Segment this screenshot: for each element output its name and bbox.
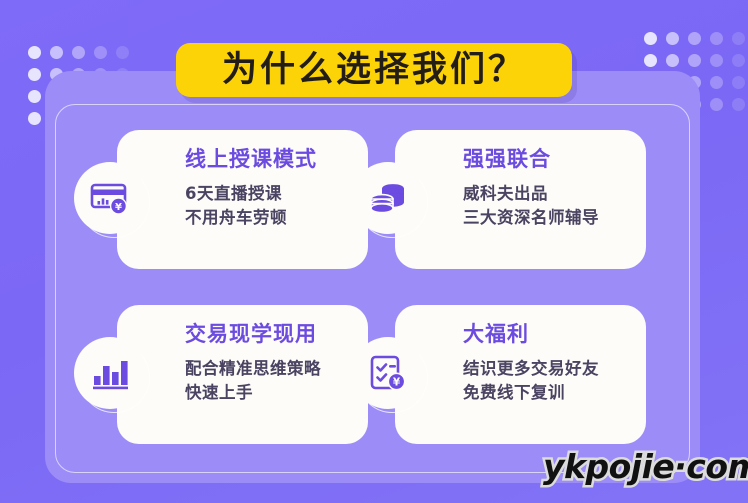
svg-text:¥: ¥ bbox=[393, 377, 401, 389]
icon-badge-strong-alliance bbox=[352, 162, 428, 238]
watermark: ykpojie·com bbox=[543, 447, 748, 486]
dot bbox=[50, 46, 63, 59]
card-body: 强强联合 威科夫出品 三大资深名师辅导 bbox=[463, 148, 636, 230]
dot bbox=[644, 54, 657, 67]
dot bbox=[732, 32, 745, 45]
dot bbox=[28, 68, 41, 81]
card-line-2: 三大资深名师辅导 bbox=[463, 206, 636, 230]
dot bbox=[710, 54, 723, 67]
icon-circle: ¥ bbox=[352, 337, 424, 409]
card-line-1: 6天直播授课 bbox=[185, 182, 358, 206]
feature-card-benefits[interactable]: 大福利 结识更多交易好友 免费线下复训 bbox=[395, 305, 646, 444]
icon-badge-benefits: ¥ bbox=[352, 337, 428, 413]
dot bbox=[116, 46, 129, 59]
clipboard-check-yuan-icon: ¥ bbox=[367, 352, 409, 394]
dot bbox=[94, 46, 107, 59]
dot bbox=[732, 76, 745, 89]
dot bbox=[710, 76, 723, 89]
title-banner: 为什么选择我们？ bbox=[176, 43, 572, 97]
dot bbox=[732, 98, 745, 111]
credit-card-chart-yuan-icon: ¥ bbox=[89, 177, 131, 219]
feature-card-trading-practice[interactable]: 交易现学现用 配合精准思维策略 快速上手 bbox=[117, 305, 368, 444]
card-line-1: 威科夫出品 bbox=[463, 182, 636, 206]
bar-chart-icon bbox=[89, 352, 131, 394]
feature-card-online-teaching[interactable]: 线上授课模式 6天直播授课 不用舟车劳顿 bbox=[117, 130, 368, 269]
card-title: 线上授课模式 bbox=[185, 148, 358, 171]
svg-text:¥: ¥ bbox=[115, 202, 122, 213]
dot bbox=[28, 46, 41, 59]
card-line-2: 快速上手 bbox=[185, 381, 358, 405]
card-body: 交易现学现用 配合精准思维策略 快速上手 bbox=[185, 323, 358, 405]
dot bbox=[644, 32, 657, 45]
dot bbox=[666, 32, 679, 45]
dot bbox=[688, 54, 701, 67]
card-line-2: 免费线下复训 bbox=[463, 381, 636, 405]
dot bbox=[666, 54, 679, 67]
card-line-1: 配合精准思维策略 bbox=[185, 357, 358, 381]
icon-badge-trading-practice bbox=[74, 337, 150, 413]
icon-circle bbox=[74, 337, 146, 409]
poster-canvas: 为什么选择我们？ 线上授课模式 6天直播授课 不用舟车劳顿 强强联合 威科夫出品… bbox=[0, 0, 748, 503]
card-title: 大福利 bbox=[463, 323, 636, 346]
dot bbox=[28, 112, 41, 125]
icon-circle: ¥ bbox=[74, 162, 146, 234]
dot bbox=[28, 90, 41, 103]
card-body: 线上授课模式 6天直播授课 不用舟车劳顿 bbox=[185, 148, 358, 230]
dot bbox=[688, 32, 701, 45]
dot bbox=[710, 32, 723, 45]
coin-stack-icon bbox=[367, 177, 409, 219]
feature-card-strong-alliance[interactable]: 强强联合 威科夫出品 三大资深名师辅导 bbox=[395, 130, 646, 269]
icon-badge-online-teaching: ¥ bbox=[74, 162, 150, 238]
dot bbox=[72, 46, 85, 59]
icon-circle bbox=[352, 162, 424, 234]
dot bbox=[732, 54, 745, 67]
card-title: 强强联合 bbox=[463, 148, 636, 171]
card-title: 交易现学现用 bbox=[185, 323, 358, 346]
card-line-2: 不用舟车劳顿 bbox=[185, 206, 358, 230]
page-title: 为什么选择我们？ bbox=[222, 53, 526, 88]
dot bbox=[710, 98, 723, 111]
card-body: 大福利 结识更多交易好友 免费线下复训 bbox=[463, 323, 636, 405]
card-line-1: 结识更多交易好友 bbox=[463, 357, 636, 381]
